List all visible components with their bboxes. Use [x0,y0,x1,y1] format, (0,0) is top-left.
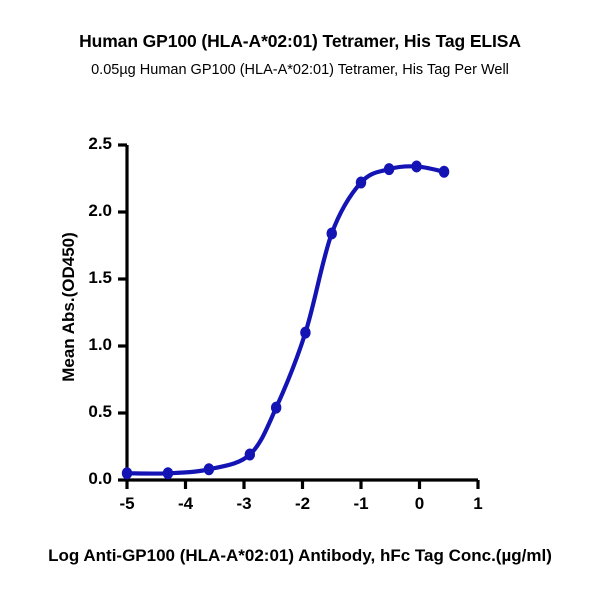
y-tick-label: 1.5 [60,268,112,288]
y-tick-label: 2.0 [60,201,112,221]
data-point [245,449,255,461]
series-curve [127,166,444,473]
data-point [327,227,337,239]
x-tick-label: -1 [335,494,387,514]
y-tick-label: 0.0 [60,469,112,489]
x-tick-label: 0 [394,494,446,514]
data-point [439,166,449,178]
chart-container: Human GP100 (HLA-A*02:01) Tetramer, His … [0,0,600,600]
y-tick-label: 2.5 [60,134,112,154]
data-point [163,467,173,479]
data-point [204,463,214,475]
data-point [384,163,394,175]
data-point [411,160,421,172]
x-tick-label: -4 [160,494,212,514]
y-tick-label: 1.0 [60,335,112,355]
data-point [122,467,132,479]
y-tick-label: 0.5 [60,402,112,422]
data-point [300,327,310,339]
data-point [271,402,281,414]
series-data-points [122,160,449,479]
data-point [356,177,366,189]
x-tick-label: -2 [277,494,329,514]
axes [127,145,478,480]
x-tick-label: -5 [101,494,153,514]
x-tick-label: -3 [218,494,270,514]
x-tick-label: 1 [452,494,504,514]
